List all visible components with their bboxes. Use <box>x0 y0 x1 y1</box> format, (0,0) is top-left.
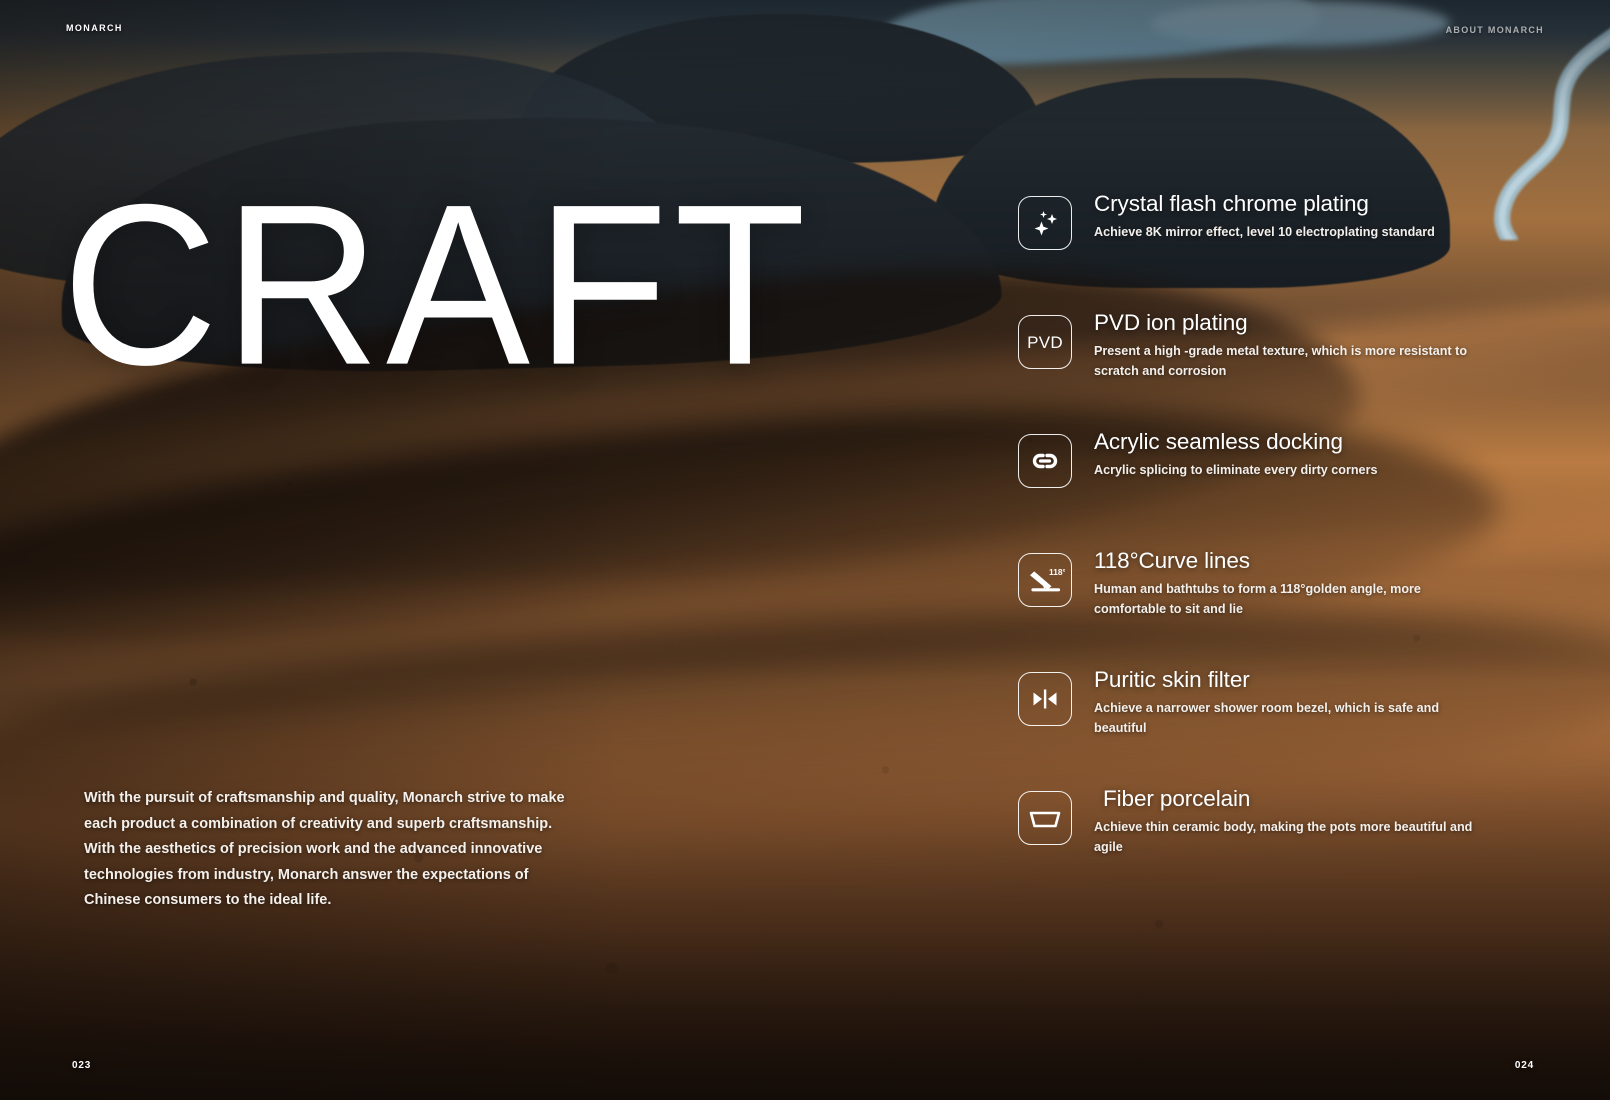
page-number-left: 023 <box>72 1060 91 1071</box>
feature-item: PVD PVD ion plating Present a high -grad… <box>1018 309 1538 395</box>
page-number-right: 024 <box>1515 1060 1534 1071</box>
feature-title: Acrylic seamless docking <box>1094 428 1538 455</box>
feature-title: Crystal flash chrome plating <box>1094 190 1538 217</box>
feature-title: PVD ion plating <box>1094 309 1538 336</box>
section-label: ABOUT MONARCH <box>1446 25 1544 35</box>
feature-description: Acrylic splicing to eliminate every dirt… <box>1094 460 1474 480</box>
feature-item: 118° 118°Curve lines Human and bathtubs … <box>1018 547 1538 633</box>
feature-description: Present a high -grade metal texture, whi… <box>1094 341 1474 381</box>
feature-item: Acrylic seamless docking Acrylic splicin… <box>1018 428 1538 514</box>
brand-label: MONARCH <box>66 23 123 33</box>
feature-list: Crystal flash chrome plating Achieve 8K … <box>1018 190 1538 871</box>
feature-description: Achieve 8K mirror effect, level 10 elect… <box>1094 222 1474 242</box>
pvd-icon-label: PVD <box>1027 334 1063 351</box>
feature-title: Puritic skin filter <box>1094 666 1538 693</box>
collapse-horizontal-icon <box>1018 672 1072 726</box>
feature-item: Fiber porcelain Achieve thin ceramic bod… <box>1018 785 1538 871</box>
pvd-icon: PVD <box>1018 315 1072 369</box>
basin-icon <box>1018 791 1072 845</box>
feature-description: Achieve a narrower shower room bezel, wh… <box>1094 698 1474 738</box>
magazine-spread: MONARCH ABOUT MONARCH CRAFT With the pur… <box>0 0 1610 1100</box>
backrest-angle-icon: 118° <box>1018 553 1072 607</box>
sparkle-icon <box>1018 196 1072 250</box>
feature-item: Puritic skin filter Achieve a narrower s… <box>1018 666 1538 752</box>
svg-text:118°: 118° <box>1049 567 1065 577</box>
feature-title: Fiber porcelain <box>1094 785 1538 812</box>
feature-description: Achieve thin ceramic body, making the po… <box>1094 817 1474 857</box>
feature-title: 118°Curve lines <box>1094 547 1538 574</box>
page-title: CRAFT <box>62 176 812 393</box>
link-icon <box>1018 434 1072 488</box>
feature-description: Human and bathtubs to form a 118°golden … <box>1094 579 1479 619</box>
intro-paragraph: With the pursuit of craftsmanship and qu… <box>84 786 584 914</box>
feature-item: Crystal flash chrome plating Achieve 8K … <box>1018 190 1538 276</box>
